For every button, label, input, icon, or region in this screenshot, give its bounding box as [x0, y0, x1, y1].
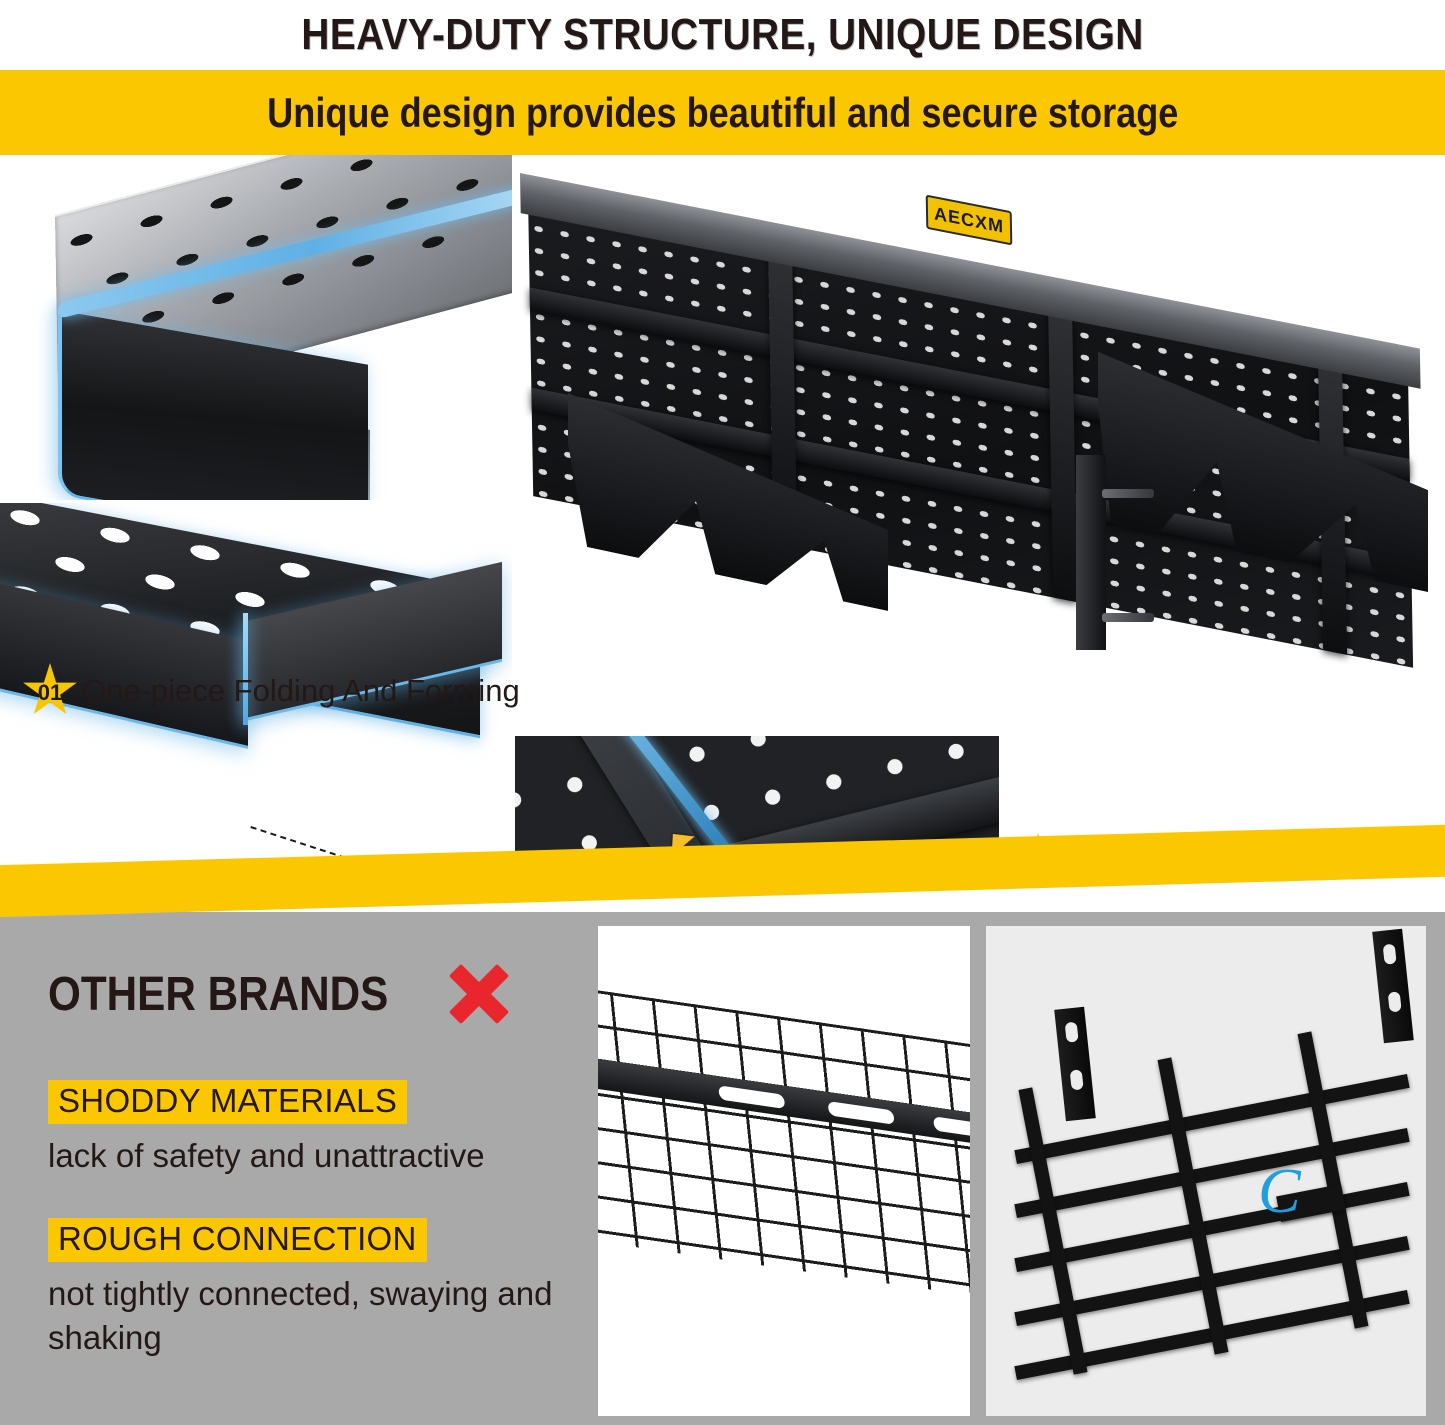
red-x-icon	[449, 964, 509, 1024]
comparison-item-label-1: ROUGH CONNECTION	[48, 1218, 427, 1262]
bracket-hole	[1383, 944, 1397, 965]
mounting-screw	[1102, 613, 1154, 622]
comparison-item-detail-0: lack of safety and unattractive	[48, 1134, 588, 1178]
header-banner: Unique design provides beautiful and sec…	[0, 70, 1445, 155]
edge-slot	[828, 1101, 895, 1125]
edge-slot	[933, 1116, 970, 1140]
frame-crossbar	[1158, 1057, 1229, 1354]
comparison-section: OTHER BRANDS SHODDY MATERIALS lack of sa…	[0, 912, 1445, 1425]
page-title-bar: HEAVY-DUTY STRUCTURE, UNIQUE DESIGN	[0, 0, 1445, 70]
comparison-heading: OTHER BRANDS	[48, 967, 388, 1022]
competitor-photo-mesh	[598, 926, 970, 1416]
frame-crossbar	[1018, 1087, 1087, 1374]
mounting-screw	[1102, 489, 1154, 498]
product-photo-main: AECXM	[498, 155, 1445, 735]
loose-connection-marker: C	[1258, 1154, 1301, 1228]
wire-mesh-deck	[598, 986, 970, 1309]
comparison-item-label-0: SHODDY MATERIALS	[48, 1080, 407, 1124]
features-section: AECXM 01 One-piece Folding And Forming	[0, 155, 1445, 875]
wall-post	[1076, 455, 1106, 650]
page-title: HEAVY-DUTY STRUCTURE, UNIQUE DESIGN	[301, 10, 1143, 60]
bracket-hole	[1070, 1069, 1084, 1090]
competitor-photo-frame: C	[986, 926, 1426, 1416]
bracket-hole	[1388, 991, 1402, 1012]
frame-crossbar	[1298, 1031, 1369, 1328]
brand-badge: AECXM	[926, 195, 1013, 246]
header-banner-text: Unique design provides beautiful and sec…	[267, 89, 1178, 137]
wall-bracket	[1054, 1007, 1096, 1122]
edge-slot	[718, 1085, 785, 1109]
bracket-hole	[1065, 1022, 1079, 1043]
brand-badge-text: AECXM	[934, 203, 1004, 238]
feature-label-01: One-piece Folding And Forming	[82, 673, 520, 709]
comparison-item-detail-1: not tightly connected, swaying and shaki…	[48, 1272, 588, 1359]
product-photo-beam	[0, 155, 512, 500]
comparison-heading-row: OTHER BRANDS	[48, 964, 509, 1024]
wall-bracket	[1372, 929, 1414, 1044]
product-photo-corner	[0, 503, 512, 791]
feature-number: 01	[38, 680, 62, 706]
